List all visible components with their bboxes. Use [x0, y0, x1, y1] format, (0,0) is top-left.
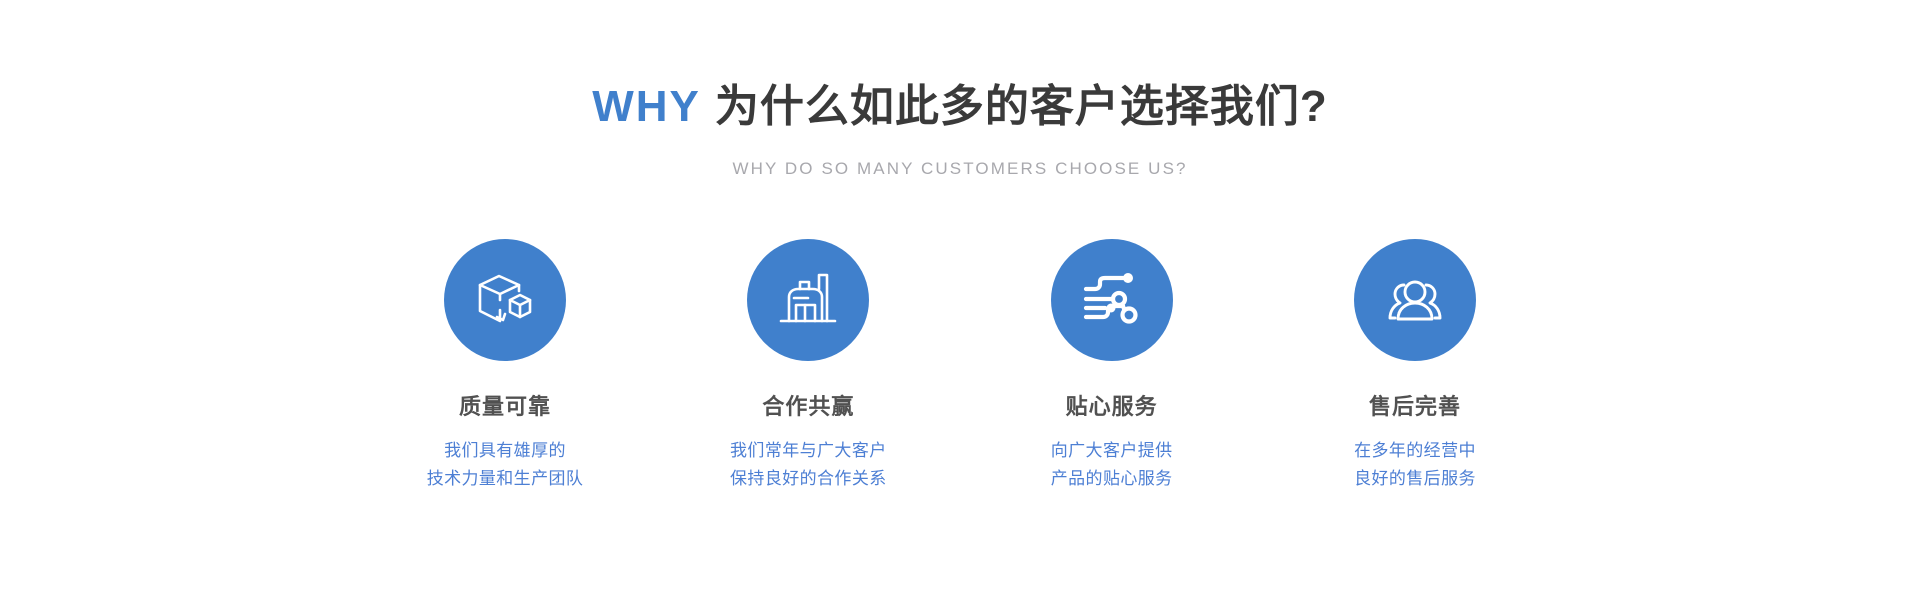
- card-description: 向广大客户提供 产品的贴心服务: [1051, 437, 1173, 492]
- feature-card-quality[interactable]: 质量可靠 我们具有雄厚的 技术力量和生产团队: [380, 239, 630, 492]
- icon-badge: [1354, 239, 1476, 361]
- section-subtitle: WHY DO SO MANY CUSTOMERS CHOOSE US?: [0, 159, 1920, 179]
- card-title: 售后完善: [1369, 394, 1461, 420]
- icon-badge: [1051, 239, 1173, 361]
- feature-card-list: 质量可靠 我们具有雄厚的 技术力量和生产团队: [380, 239, 1540, 492]
- title-chinese: 为什么如此多的客户选择我们?: [715, 82, 1328, 131]
- feature-card-service[interactable]: 贴心服务 向广大客户提供 产品的贴心服务: [987, 239, 1237, 492]
- icon-badge: [747, 239, 869, 361]
- page-title: WHY为什么如此多的客户选择我们?: [0, 82, 1920, 133]
- section-heading: WHY为什么如此多的客户选择我们? WHY DO SO MANY CUSTOME…: [0, 82, 1920, 179]
- circuit-network-icon: [1079, 267, 1145, 333]
- card-title: 质量可靠: [459, 394, 551, 420]
- card-description: 我们常年与广大客户 保持良好的合作关系: [730, 437, 887, 492]
- card-description-line-1: 我们常年与广大客户: [730, 437, 887, 465]
- card-description-line-2: 保持良好的合作关系: [730, 465, 887, 493]
- title-eyebrow-why: WHY: [592, 82, 701, 131]
- feature-card-cooperation[interactable]: 合作共赢 我们常年与广大客户 保持良好的合作关系: [683, 239, 933, 492]
- factory-icon: [775, 267, 841, 333]
- card-description-line-2: 良好的售后服务: [1354, 465, 1476, 493]
- card-description-line-2: 产品的贴心服务: [1051, 465, 1173, 493]
- card-description: 我们具有雄厚的 技术力量和生产团队: [427, 437, 584, 492]
- package-box-icon: [472, 267, 538, 333]
- feature-card-aftersales[interactable]: 售后完善 在多年的经营中 良好的售后服务: [1290, 239, 1540, 492]
- card-title: 合作共赢: [762, 394, 854, 420]
- icon-badge: [444, 239, 566, 361]
- card-description: 在多年的经营中 良好的售后服务: [1354, 437, 1476, 492]
- card-description-line-1: 在多年的经营中: [1354, 437, 1476, 465]
- card-description-line-2: 技术力量和生产团队: [427, 465, 584, 493]
- card-description-line-1: 我们具有雄厚的: [427, 437, 584, 465]
- card-title: 贴心服务: [1066, 394, 1158, 420]
- why-choose-us-section: WHY为什么如此多的客户选择我们? WHY DO SO MANY CUSTOME…: [0, 0, 1920, 615]
- users-group-icon: [1382, 267, 1448, 333]
- card-description-line-1: 向广大客户提供: [1051, 437, 1173, 465]
